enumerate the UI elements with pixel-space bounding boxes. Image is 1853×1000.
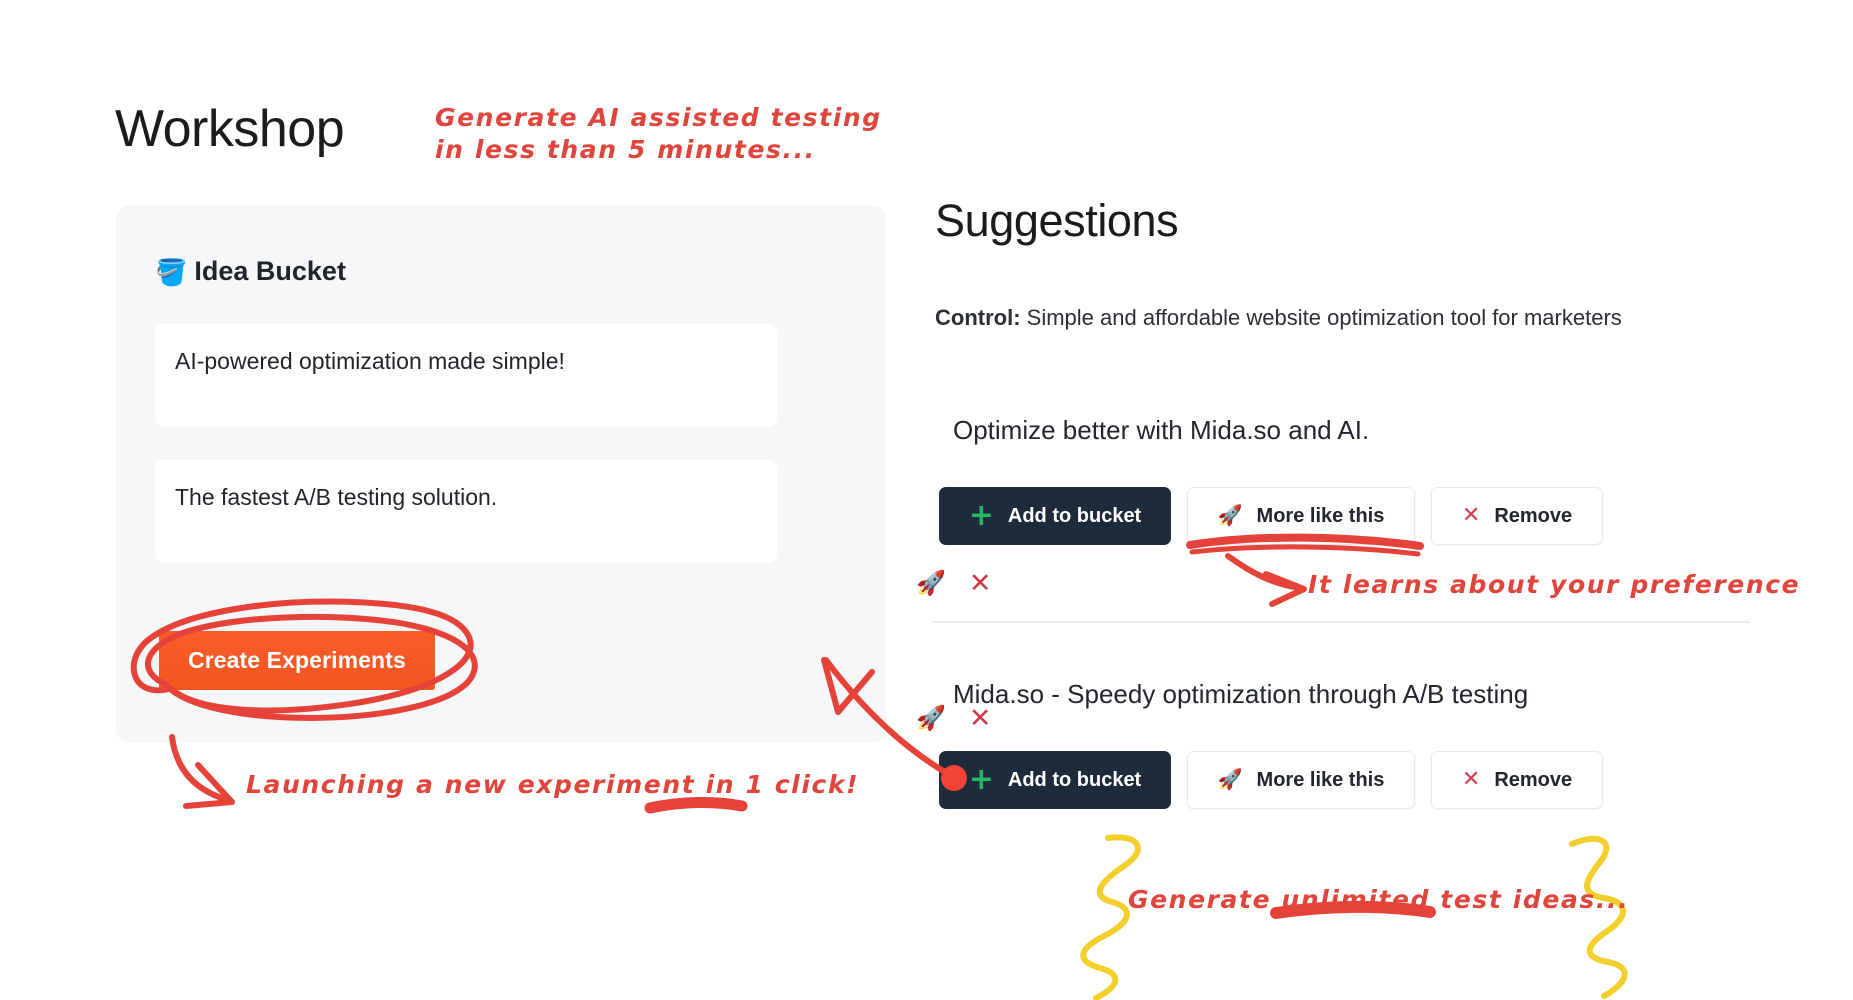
idea-bucket-title: 🪣 Idea Bucket	[155, 256, 346, 287]
annotation-header-line2: in less than 5 minutes...	[435, 134, 882, 166]
idea-actions-1: 🚀 ✕	[916, 570, 992, 597]
squiggle-right	[1572, 839, 1625, 996]
more-like-this-label: More like this	[1257, 769, 1385, 792]
more-like-this-label: More like this	[1257, 505, 1385, 528]
idea-bucket-title-label: Idea Bucket	[194, 256, 346, 287]
suggestion-divider	[932, 621, 1750, 623]
app-root: Workshop 🪣 Idea Bucket 🚀 ✕ 🚀 ✕ Create Ex…	[0, 0, 1853, 1000]
arrow-to-learns-note	[1228, 556, 1304, 604]
annotation-launch-note: Launching a new experiment in 1 click!	[246, 770, 859, 799]
add-to-bucket-label: Add to bucket	[1008, 769, 1141, 792]
more-like-this-button-2[interactable]: 🚀 More like this	[1187, 751, 1415, 809]
suggestion-actions-1: + Add to bucket 🚀 More like this ✕ Remov…	[939, 487, 1603, 545]
rocket-icon: 🚀	[1218, 770, 1243, 790]
control-line: Control: Simple and affordable website o…	[935, 305, 1622, 331]
annotation-header-note: Generate AI assisted testing in less tha…	[435, 102, 882, 166]
add-to-bucket-button-2[interactable]: + Add to bucket	[939, 751, 1171, 809]
page-title: Workshop	[115, 103, 344, 155]
arrow-to-launch-note	[172, 737, 232, 806]
create-experiments-button[interactable]: Create Experiments	[159, 631, 435, 690]
suggestions-title: Suggestions	[935, 198, 1178, 243]
remove-button-1[interactable]: ✕ Remove	[1431, 487, 1603, 545]
remove-label: Remove	[1494, 769, 1572, 792]
annotation-header-line1: Generate AI assisted testing	[435, 102, 882, 134]
remove-button-2[interactable]: ✕ Remove	[1431, 751, 1603, 809]
add-to-bucket-button-1[interactable]: + Add to bucket	[939, 487, 1171, 545]
annotation-unlimited-note: Generate unlimited test ideas...	[1128, 885, 1629, 914]
underline-unlimited	[1276, 907, 1430, 913]
close-icon: ✕	[1462, 505, 1480, 527]
underline-one-click	[650, 802, 742, 808]
idea-input-2[interactable]	[155, 460, 777, 563]
rocket-icon[interactable]: 🚀	[916, 707, 946, 731]
rocket-icon[interactable]: 🚀	[916, 572, 946, 596]
suggestion-text-1: Optimize better with Mida.so and AI.	[953, 415, 1369, 446]
plus-icon: +	[969, 765, 994, 795]
remove-label: Remove	[1494, 505, 1572, 528]
squiggle-left	[1083, 837, 1138, 998]
underline-more-like-this-2	[1192, 547, 1418, 554]
control-text: Simple and affordable website optimizati…	[1027, 305, 1622, 330]
more-like-this-button-1[interactable]: 🚀 More like this	[1187, 487, 1415, 545]
plus-icon: +	[969, 501, 994, 531]
suggestion-actions-2: + Add to bucket 🚀 More like this ✕ Remov…	[939, 751, 1603, 809]
bucket-icon: 🪣	[155, 259, 187, 285]
rocket-icon: 🚀	[1218, 506, 1243, 526]
close-icon: ✕	[1462, 769, 1480, 791]
close-icon[interactable]: ✕	[969, 570, 992, 597]
control-label: Control:	[935, 305, 1021, 330]
annotation-learns-note: It learns about your preference	[1308, 570, 1800, 599]
suggestion-text-2: Mida.so - Speedy optimization through A/…	[953, 679, 1528, 710]
add-to-bucket-label: Add to bucket	[1008, 505, 1141, 528]
idea-input-1[interactable]	[155, 324, 777, 427]
